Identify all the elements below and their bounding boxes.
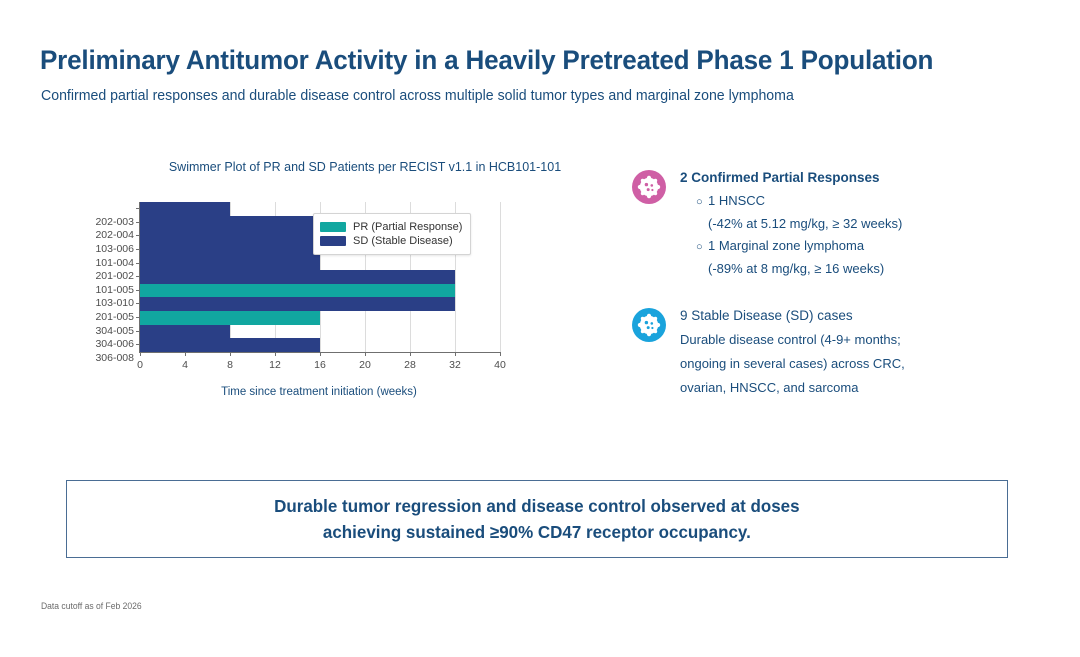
slide: Preliminary Antitumor Activity in a Heav… [0, 0, 1080, 657]
callout-line-2: achieving sustained ≥90% CD47 receptor o… [274, 519, 799, 545]
chart-bar-202-003 [140, 202, 230, 216]
x-axis-tick-label: 40 [494, 359, 506, 371]
chart-bar-304-005 [140, 311, 320, 325]
bullet-circle-icon: ○ [696, 236, 708, 258]
y-axis-tick-label: 306-008 [95, 352, 134, 366]
chart-bar-202-004 [140, 216, 320, 230]
x-axis-tick [185, 352, 186, 356]
x-axis-tick [500, 352, 501, 356]
y-axis-tick [136, 276, 140, 277]
chart-bar-304-006 [140, 325, 230, 339]
y-axis-tick [136, 344, 140, 345]
cell-icon [632, 308, 666, 342]
highlight-text-line: ongoing in several cases) across CRC, [680, 352, 1052, 376]
y-axis-tick [136, 290, 140, 291]
x-axis-tick-label: 20 [359, 359, 371, 371]
chart-bar-103-006 [140, 229, 320, 243]
x-axis-tick-label: 12 [269, 359, 281, 371]
legend-item-pr: PR (Partial Response) [320, 221, 462, 233]
highlight-list-item-text: 1 Marginal zone lymphoma [708, 238, 864, 253]
chart-bar-306-008 [140, 338, 320, 352]
chart-title: Swimmer Plot of PR and SD Patients per R… [155, 160, 575, 174]
chart-bar-row: 202-003 [140, 202, 230, 216]
highlight-block-2: 9 Stable Disease (SD) casesDurable disea… [632, 306, 1052, 400]
chart-bar-row: 103-010 [140, 284, 455, 298]
y-axis-tick-label: 103-010 [95, 297, 134, 311]
highlight-heading: 9 Stable Disease (SD) cases [680, 306, 1052, 326]
legend-label-sd: SD (Stable Disease) [353, 235, 453, 247]
y-axis-tick-label: 202-004 [95, 229, 134, 243]
y-axis-tick [136, 222, 140, 223]
bullet-circle-icon: ○ [696, 191, 708, 213]
chart-bar-101-004 [140, 243, 320, 257]
x-axis-tick-label: 16 [314, 359, 326, 371]
legend-swatch-sd-icon [320, 236, 346, 246]
legend-label-pr: PR (Partial Response) [353, 221, 462, 233]
highlight-text-line: ovarian, HNSCC, and sarcoma [680, 376, 1052, 400]
highlight-body: 9 Stable Disease (SD) casesDurable disea… [680, 306, 1052, 400]
x-axis-tick [410, 352, 411, 356]
chart-bar-row: 304-005 [140, 311, 320, 325]
highlight-block-1: 2 Confirmed Partial Responses○1 HNSCC(-4… [632, 168, 1052, 280]
page-title: Preliminary Antitumor Activity in a Heav… [40, 45, 933, 76]
x-axis-tick [230, 352, 231, 356]
y-axis-tick-label: 101-004 [95, 257, 134, 271]
y-axis-tick-label: 202-003 [95, 216, 134, 230]
x-axis-tick-label: 32 [449, 359, 461, 371]
x-axis-title: Time since treatment initiation (weeks) [139, 386, 499, 398]
chart-bar-row: 201-005 [140, 297, 455, 311]
chart-bar-201-002 [140, 257, 320, 271]
callout-box: Durable tumor regression and disease con… [66, 480, 1008, 558]
cell-icon [632, 170, 666, 204]
chart-bar-row: 306-008 [140, 338, 320, 352]
y-axis-tick [136, 249, 140, 250]
y-axis-tick-label: 201-002 [95, 270, 134, 284]
chart-bar-103-010 [140, 284, 455, 298]
chart-bar-row: 201-002 [140, 257, 320, 271]
highlight-list-item: ○1 Marginal zone lymphoma [696, 235, 1052, 258]
x-axis-tick-label: 4 [182, 359, 188, 371]
y-axis-tick-label: 304-006 [95, 338, 134, 352]
chart-bar-row: 101-004 [140, 243, 320, 257]
highlight-list-item-text: 1 HNSCC [708, 193, 765, 208]
y-axis-tick-label: 101-005 [95, 284, 134, 298]
x-axis-tick [455, 352, 456, 356]
x-axis-tick [275, 352, 276, 356]
highlights-panel: 2 Confirmed Partial Responses○1 HNSCC(-4… [632, 168, 1052, 422]
chart-bar-101-005 [140, 270, 455, 284]
y-axis-tick [136, 303, 140, 304]
swimmer-plot: Swimmer Plot of PR and SD Patients per R… [60, 150, 620, 470]
y-axis-tick [136, 317, 140, 318]
y-axis-tick-label: 201-005 [95, 311, 134, 325]
y-axis-tick-label: 103-006 [95, 243, 134, 257]
x-axis-tick-label: 28 [404, 359, 416, 371]
legend-swatch-pr-icon [320, 222, 346, 232]
highlight-list-item-detail: (-89% at 8 mg/kg, ≥ 16 weeks) [708, 258, 1052, 280]
chart-legend: PR (Partial Response) SD (Stable Disease… [313, 213, 471, 255]
chart-bar-row: 202-004 [140, 216, 320, 230]
callout-line-1: Durable tumor regression and disease con… [274, 493, 799, 519]
y-axis-tick-label: 304-005 [95, 325, 134, 339]
x-axis-tick [320, 352, 321, 356]
highlight-body: 2 Confirmed Partial Responses○1 HNSCC(-4… [680, 168, 1052, 280]
x-axis-tick [140, 352, 141, 356]
highlight-heading: 2 Confirmed Partial Responses [680, 168, 1052, 188]
y-axis-tick [136, 331, 140, 332]
chart-bar-201-005 [140, 297, 455, 311]
footer-note: Data cutoff as of Feb 2026 [41, 601, 142, 611]
y-axis-tick [136, 235, 140, 236]
chart-bar-row: 304-006 [140, 325, 230, 339]
chart-bar-row: 103-006 [140, 229, 320, 243]
x-axis-tick-label: 0 [137, 359, 143, 371]
x-axis-tick-label: 8 [227, 359, 233, 371]
chart-gridline [500, 202, 501, 352]
y-axis-tick [136, 263, 140, 264]
highlight-list-item: ○1 HNSCC [696, 190, 1052, 213]
x-axis-tick [365, 352, 366, 356]
chart-bar-row: 101-005 [140, 270, 455, 284]
y-axis-tick [136, 208, 140, 209]
page-subtitle: Confirmed partial responses and durable … [41, 88, 794, 104]
legend-item-sd: SD (Stable Disease) [320, 235, 462, 247]
highlight-list-item-detail: (-42% at 5.12 mg/kg, ≥ 32 weeks) [708, 213, 1052, 235]
highlight-text-line: Durable disease control (4-9+ months; [680, 328, 1052, 352]
